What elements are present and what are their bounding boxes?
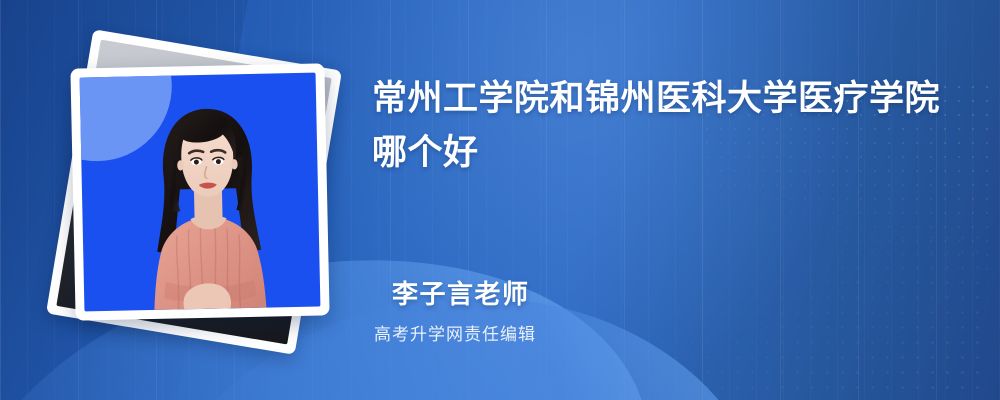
- banner-text-block: 常州工学院和锦州医科大学医疗学院哪个好 李子言老师 高考升学网责任编辑: [372, 0, 972, 400]
- author-photo-card: [70, 63, 329, 320]
- author-role: 高考升学网责任编辑: [374, 320, 536, 345]
- author-name: 李子言老师: [392, 274, 536, 311]
- page-title: 常州工学院和锦州医科大学医疗学院哪个好: [372, 72, 968, 180]
- article-header-banner: 常州工学院和锦州医科大学医疗学院哪个好 李子言老师 高考升学网责任编辑: [0, 0, 1000, 400]
- byline: 李子言老师 高考升学网责任编辑: [392, 274, 536, 345]
- photo-card-stack: [40, 30, 370, 370]
- author-photo: [80, 73, 321, 312]
- female-portrait-illustration: [118, 83, 299, 311]
